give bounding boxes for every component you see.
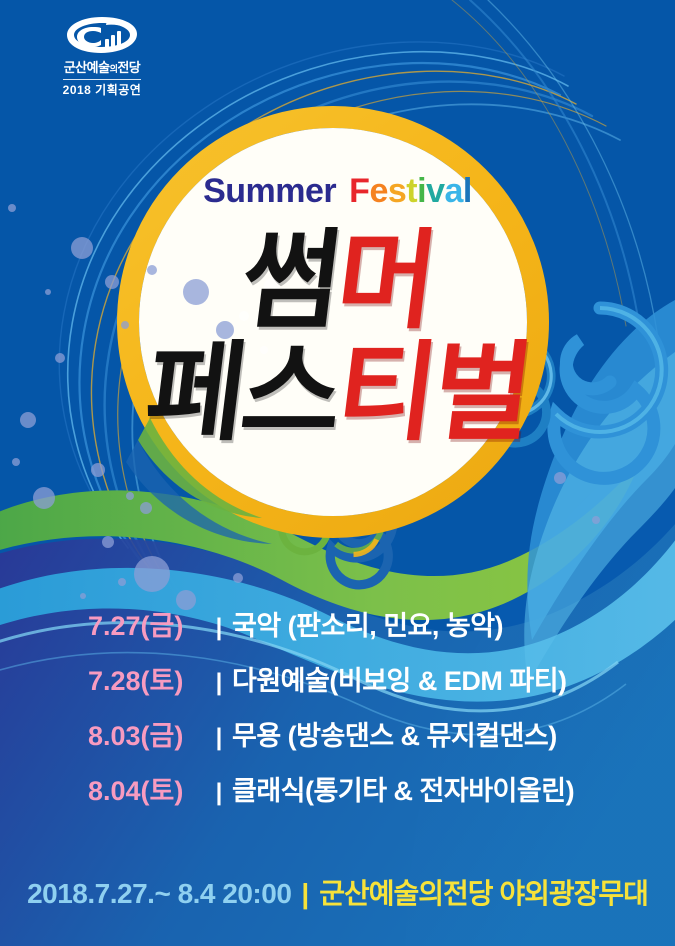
- program-separator: |: [206, 724, 232, 752]
- logo-org-prefix: 군산: [64, 60, 87, 75]
- program-row: 8.03(금) | 무용 (방송댄스 & 뮤지컬댄스): [0, 714, 675, 769]
- logo-season-label: 2018 기획공연: [63, 79, 142, 97]
- logo-org-suffix: 전당: [117, 60, 140, 75]
- gunsan-arts-center-logo-mark: [63, 14, 141, 60]
- program-separator: |: [206, 669, 232, 697]
- program-title: 무용 (방송댄스 & 뮤지컬댄스): [232, 714, 557, 753]
- program-row: 7.28(토) | 다원예술(비보잉 & EDM 파티): [0, 659, 675, 714]
- footer-bar: 2018.7.27.~ 8.4 20:00 | 군산예술의전당 야외광장무대: [0, 872, 675, 912]
- program-date: 7.28(토): [88, 659, 206, 698]
- footer-venue: 군산예술의전당 야외광장무대: [319, 872, 648, 912]
- program-date: 8.04(토): [88, 769, 206, 808]
- program-separator: |: [206, 614, 232, 642]
- program-title: 국악 (판소리, 민요, 농악): [232, 604, 503, 643]
- program-separator: |: [206, 779, 232, 807]
- program-title: 클래식(통기타 & 전자바이올린): [232, 769, 574, 808]
- program-row: 8.04(토) | 클래식(통기타 & 전자바이올린): [0, 769, 675, 824]
- logo-org-mid: 예술: [87, 60, 110, 75]
- program-list: 7.27(금) | 국악 (판소리, 민요, 농악) 7.28(토) | 다원예…: [0, 604, 675, 824]
- program-date: 7.27(금): [88, 604, 206, 643]
- program-row: 7.27(금) | 국악 (판소리, 민요, 농악): [0, 604, 675, 659]
- program-title: 다원예술(비보잉 & EDM 파티): [232, 659, 567, 698]
- logo-organization-name: 군산예술의전당: [32, 61, 172, 75]
- logo-block: 군산예술의전당 2018 기획공연: [32, 14, 172, 99]
- footer-datetime: 2018.7.27.~ 8.4 20:00: [27, 878, 291, 910]
- program-date: 8.03(금): [88, 714, 206, 753]
- poster-root: 군산예술의전당 2018 기획공연 SummerFestival 썸머 페스티벌…: [0, 0, 675, 946]
- footer-separator: |: [301, 878, 309, 910]
